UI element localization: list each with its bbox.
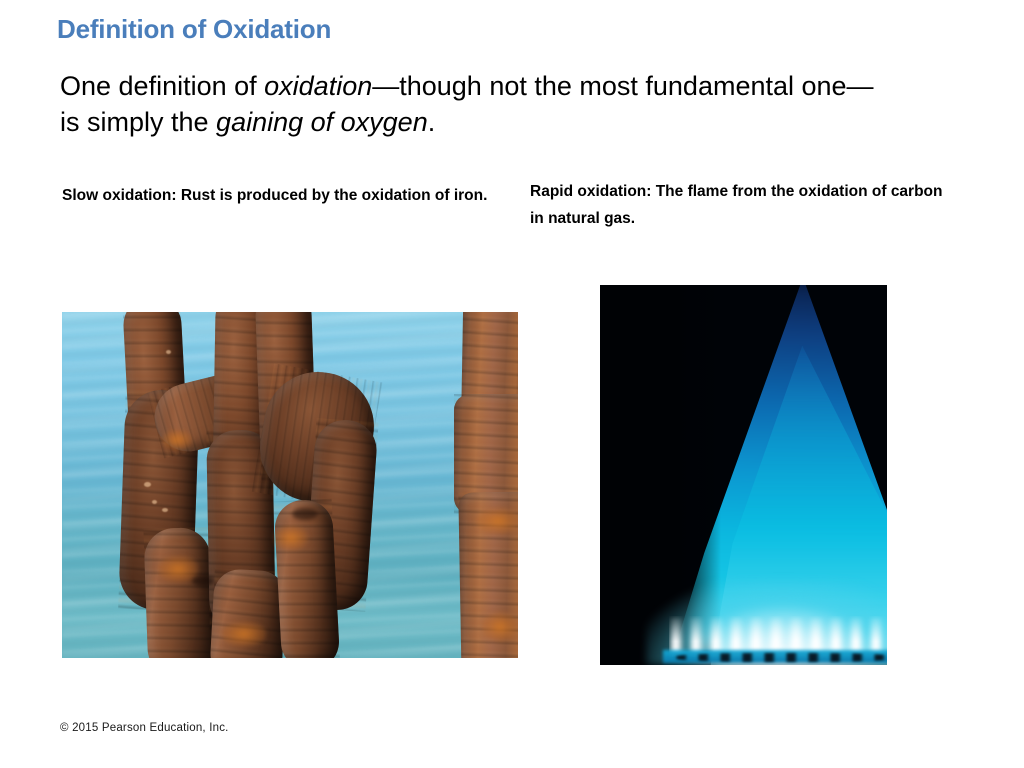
rust-patch: [482, 612, 518, 642]
rust-patch: [476, 508, 518, 534]
rust-grain-texture: [274, 499, 341, 658]
page-title: Definition of Oxidation: [57, 14, 331, 45]
chain-link-left-bottom: [143, 527, 214, 658]
rust-highlight-speck: [166, 350, 171, 354]
caption-rapid-oxidation: Rapid oxidation: The flame from the oxid…: [530, 178, 950, 232]
copyright-footer: © 2015 Pearson Education, Inc.: [60, 722, 229, 734]
rust-crevice: [192, 576, 214, 586]
rust-grain-texture: [143, 527, 214, 658]
rust-highlight-speck: [162, 508, 168, 512]
rust-patch: [162, 430, 192, 450]
blue-gas-flame-photo: [600, 285, 887, 665]
burner-port-holes: [675, 653, 887, 662]
rusty-chain-photo: [62, 312, 518, 658]
rust-highlight-speck: [152, 500, 157, 504]
rust-patch: [274, 526, 308, 550]
chain-link-right-lower: [274, 499, 341, 658]
rust-highlight-speck: [144, 482, 151, 487]
body-text-part1: One definition of: [60, 71, 264, 101]
body-emphasis-gaining-of-oxygen: gaining of oxygen: [216, 107, 428, 137]
body-emphasis-oxidation: oxidation: [264, 71, 372, 101]
slide-canvas: Definition of Oxidation One definition o…: [0, 0, 1024, 768]
caption-slow-oxidation: Slow oxidation: Rust is produced by the …: [62, 182, 492, 209]
body-paragraph: One definition of oxidation—though not t…: [60, 68, 890, 141]
rust-patch: [222, 622, 266, 646]
body-text-part3: .: [428, 107, 436, 137]
rust-crevice: [292, 508, 318, 520]
